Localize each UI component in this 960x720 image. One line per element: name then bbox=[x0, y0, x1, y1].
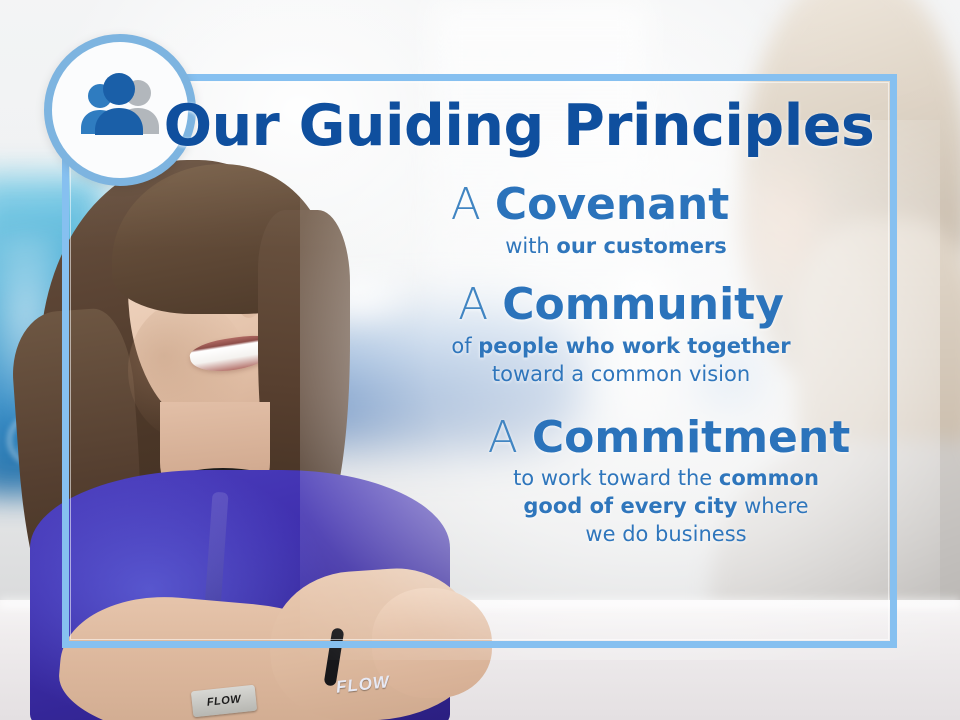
principle-community-word: Community bbox=[502, 279, 784, 330]
principle-community-article: A bbox=[458, 279, 488, 330]
principle-community-sub-line2: toward a common vision bbox=[492, 362, 750, 386]
principle-commitment-subtext: to work toward the common good of every … bbox=[458, 465, 880, 548]
principle-covenant-article: A bbox=[451, 179, 481, 230]
principle-commitment-sub-bold2: good of every city bbox=[523, 494, 737, 518]
principle-commitment-article: A bbox=[488, 412, 518, 463]
principles-list: A Covenant with our customers A Communit… bbox=[300, 182, 880, 565]
principle-commitment-word: Commitment bbox=[532, 412, 850, 463]
principle-commitment-sub-plain2: where bbox=[737, 494, 808, 518]
principle-community-sub-bold: people who work together bbox=[478, 334, 790, 358]
chest-logo-text: FLOW bbox=[335, 672, 391, 698]
principle-commitment-sub-line3: we do business bbox=[585, 522, 746, 546]
name-badge-text: FLOW bbox=[206, 693, 241, 709]
principle-commitment-sub-bold1: common bbox=[719, 466, 819, 490]
principle-commitment-title: A Commitment bbox=[458, 415, 880, 461]
principle-covenant-word: Covenant bbox=[495, 179, 729, 230]
principle-covenant-sub-plain: with bbox=[505, 234, 556, 258]
principle-covenant-title: A Covenant bbox=[300, 182, 880, 228]
principle-community-sub-plain: of bbox=[451, 334, 478, 358]
principle-community: A Community of people who work together … bbox=[300, 282, 880, 388]
principle-commitment-sub-plain1: to work toward the bbox=[513, 466, 719, 490]
banner-graphic: FLOW FLOW Our Guiding Principles bbox=[0, 0, 960, 720]
page-title: Our Guiding Principles bbox=[0, 98, 960, 155]
principle-covenant-subtext: with our customers bbox=[300, 233, 880, 261]
principle-community-subtext: of people who work together toward a com… bbox=[362, 333, 880, 388]
principle-commitment: A Commitment to work toward the common g… bbox=[300, 415, 880, 549]
principle-covenant-sub-bold: our customers bbox=[556, 234, 726, 258]
principle-covenant: A Covenant with our customers bbox=[300, 182, 880, 260]
principle-community-title: A Community bbox=[362, 282, 880, 328]
